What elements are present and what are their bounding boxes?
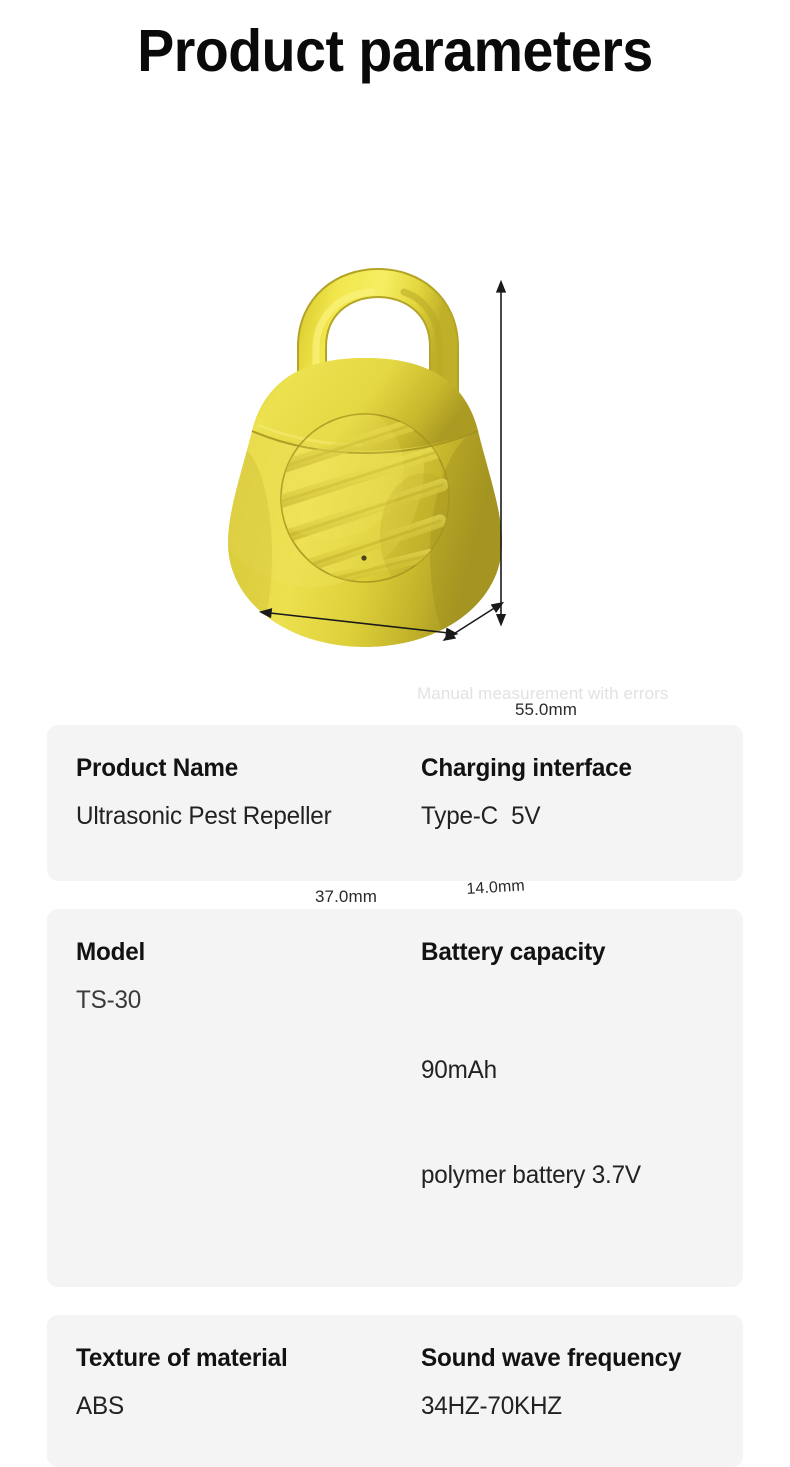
spec-label-charging-interface: Charging interface — [421, 751, 733, 785]
spec-card-model: Model TS-30 Battery capacity 90mAh polym… — [47, 909, 743, 1287]
led-indicator-dot — [361, 555, 366, 560]
spec-cell-product-name: Product Name Ultrasonic Pest Repeller — [47, 751, 392, 834]
product-illustration — [0, 255, 790, 715]
spec-value-model: TS-30 — [76, 983, 383, 1018]
spec-value-texture-of-material: ABS — [76, 1389, 383, 1424]
spec-value-product-name: Ultrasonic Pest Repeller — [76, 799, 383, 834]
product-image-stage: 55.0mm 37.0mm 14.0mm — [0, 255, 790, 715]
spec-label-battery-capacity: Battery capacity — [421, 935, 733, 969]
spec-label-sound-wave-frequency: Sound wave frequency — [421, 1341, 733, 1375]
spec-cell-texture-of-material: Texture of material ABS — [47, 1341, 392, 1424]
page-title: Product parameters — [24, 14, 767, 88]
spec-value-sound-wave-frequency: 34HZ-70KHZ — [421, 1389, 733, 1424]
spec-cell-battery-capacity: Battery capacity 90mAh polymer battery 3… — [392, 935, 743, 1263]
specification-list: Product Name Ultrasonic Pest Repeller Ch… — [47, 725, 743, 1467]
spec-cell-charging-interface: Charging interface Type-C 5V — [392, 751, 743, 834]
spec-card-texture-of-material: Texture of material ABS Sound wave frequ… — [47, 1315, 743, 1467]
spec-card-product-name: Product Name Ultrasonic Pest Repeller Ch… — [47, 725, 743, 881]
spec-label-product-name: Product Name — [76, 751, 383, 785]
spec-label-texture-of-material: Texture of material — [76, 1341, 383, 1375]
spec-cell-sound-wave-frequency: Sound wave frequency 34HZ-70KHZ — [392, 1341, 743, 1424]
measurement-disclaimer: Manual measurement with errors — [417, 684, 668, 704]
spec-cell-model: Model TS-30 — [47, 935, 392, 1018]
spec-value-battery-capacity-line-2: polymer battery 3.7V — [421, 1158, 733, 1193]
spec-label-model: Model — [76, 935, 383, 969]
spec-value-charging-interface: Type-C 5V — [421, 799, 733, 834]
spec-value-battery-capacity-line-1: 90mAh — [421, 1053, 733, 1088]
spec-value-battery-capacity: 90mAh polymer battery 3.7V — [421, 983, 733, 1263]
